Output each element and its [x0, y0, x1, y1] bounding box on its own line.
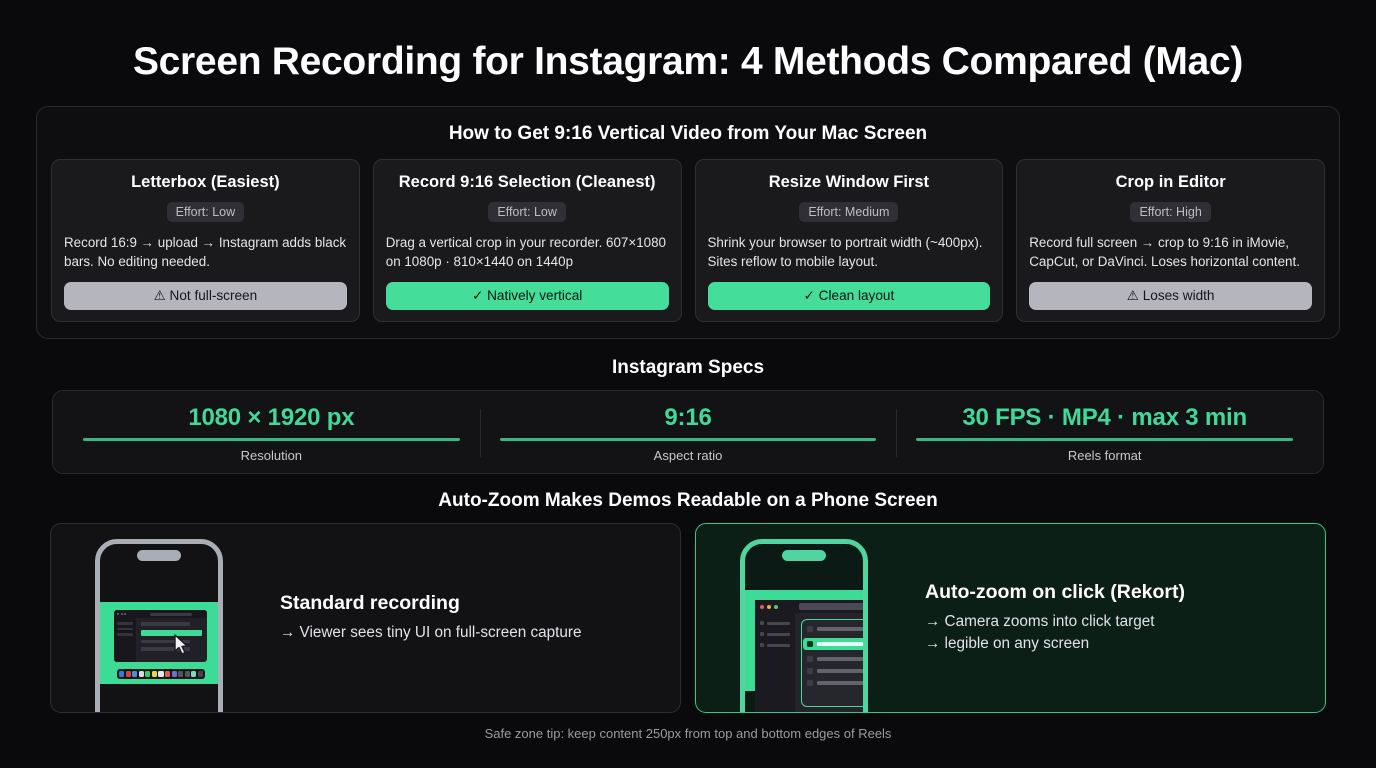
- sidebar-item: [760, 632, 790, 636]
- effort-wrapper: Effort: High: [1029, 202, 1312, 222]
- verdict-label: Clean layout: [819, 288, 895, 303]
- dock-app-icon: [119, 671, 124, 677]
- dock-app-icon: [152, 671, 157, 677]
- traffic-light-red-icon: [760, 605, 764, 609]
- checkbox-icon: [807, 668, 813, 674]
- warning-triangle-icon: ⚠: [1127, 288, 1139, 303]
- spec-underline: [83, 438, 460, 441]
- effort-badge: Effort: Medium: [799, 202, 898, 222]
- method-verdict: ⚠ Not full-screen: [64, 282, 347, 310]
- sidebar-item: [760, 643, 790, 647]
- mini-sidebar-line: [117, 628, 133, 631]
- phone-mockup-standard: [51, 523, 266, 713]
- mini-sidebar-line: [117, 633, 133, 636]
- warning-triangle-icon: ⚠: [154, 288, 166, 303]
- dock-app-icon: [172, 671, 177, 677]
- zoom-accent-edge-left: [745, 590, 755, 691]
- methods-row: Letterbox (Easiest) Effort: Low Record 1…: [51, 159, 1325, 322]
- mini-window-titlebar: [114, 610, 207, 618]
- mini-desktop-window: [114, 610, 207, 662]
- zoomed-window-body: [755, 613, 868, 713]
- dock-app-icon: [158, 671, 163, 677]
- phone-notch-icon: [782, 550, 826, 561]
- spec-aspect-ratio: 9:16 Aspect ratio: [480, 403, 897, 463]
- check-icon: ✓: [472, 288, 483, 303]
- dock-trash-icon: [198, 671, 203, 677]
- dock-app-icon: [145, 671, 150, 677]
- mouse-cursor-icon: [174, 634, 190, 656]
- dock-app-icon: [126, 671, 131, 677]
- standard-recording-text: Standard recording → Viewer sees tiny UI…: [266, 592, 582, 644]
- focus-row-label: [817, 627, 868, 631]
- letterbox-band: [100, 602, 218, 684]
- method-description: Drag a vertical crop in your recorder. 6…: [386, 233, 669, 271]
- auto-zoom-line2: → legible on any screen: [925, 633, 1185, 655]
- method-card-resize-window: Resize Window First Effort: Medium Shrin…: [695, 159, 1004, 322]
- zoomed-app-window: [755, 600, 868, 713]
- verdict-label: Natively vertical: [487, 288, 582, 303]
- checkbox-icon: [807, 656, 813, 662]
- method-title: Crop in Editor: [1029, 172, 1312, 193]
- sidebar-item-icon: [760, 643, 764, 647]
- mini-content-row: [141, 622, 190, 626]
- safe-zone-footnote: Safe zone tip: keep content 250px from t…: [36, 726, 1340, 741]
- mini-sidebar-line: [117, 622, 133, 625]
- focus-row-label: [817, 657, 868, 661]
- method-title: Letterbox (Easiest): [64, 172, 347, 193]
- focus-row-selected: [803, 638, 868, 650]
- verdict-label: Not full-screen: [170, 288, 258, 303]
- phone-mockup-autozoom: [696, 523, 911, 713]
- page-title: Screen Recording for Instagram: 4 Method…: [36, 40, 1340, 84]
- checkbox-icon: [807, 641, 813, 647]
- spec-label: Resolution: [77, 448, 466, 463]
- method-description: Shrink your browser to portrait width (~…: [708, 233, 991, 271]
- infographic-page: Screen Recording for Instagram: 4 Method…: [0, 0, 1376, 768]
- spec-value: 1080 × 1920 px: [77, 403, 466, 433]
- panel-standard-recording: Standard recording → Viewer sees tiny UI…: [50, 523, 681, 713]
- focus-row: [807, 626, 868, 632]
- standard-recording-title: Standard recording: [280, 592, 582, 615]
- zoom-accent-edge-top: [745, 590, 863, 600]
- effort-badge: Effort: Low: [488, 202, 566, 222]
- specs-section-heading: Instagram Specs: [36, 357, 1340, 379]
- methods-section-heading: How to Get 9:16 Vertical Video from Your…: [51, 123, 1325, 145]
- effort-wrapper: Effort: Low: [386, 202, 669, 222]
- hand-pointer-cursor-icon: [867, 645, 868, 667]
- dock-app-icon: [178, 671, 183, 677]
- methods-panel: How to Get 9:16 Vertical Video from Your…: [36, 106, 1340, 339]
- dock-app-icon: [132, 671, 137, 677]
- mini-window-content: [136, 618, 207, 662]
- traffic-light-yellow-icon: [121, 613, 123, 615]
- auto-zoom-text: Auto-zoom on click (Rekort) → Camera zoo…: [911, 581, 1185, 654]
- spec-value: 30 FPS · MP4 · max 3 min: [910, 403, 1299, 433]
- zoomed-window-tab: [799, 603, 868, 610]
- sidebar-item-label: [767, 622, 790, 625]
- spec-underline: [916, 438, 1293, 441]
- dock-app-icon: [185, 671, 190, 677]
- method-verdict: ✓ Clean layout: [708, 282, 991, 310]
- phone-frame: [740, 539, 868, 713]
- traffic-light-yellow-icon: [767, 605, 771, 609]
- mini-window-body: [114, 618, 207, 662]
- effort-badge: Effort: High: [1130, 202, 1210, 222]
- spec-label: Aspect ratio: [494, 448, 883, 463]
- verdict-label: Loses width: [1143, 288, 1215, 303]
- focus-row-label: [817, 642, 868, 646]
- panel-auto-zoom: Auto-zoom on click (Rekort) → Camera zoo…: [695, 523, 1326, 713]
- sidebar-item-icon: [760, 632, 764, 636]
- focus-row: [807, 668, 868, 674]
- specs-panel: 1080 × 1920 px Resolution 9:16 Aspect ra…: [52, 390, 1324, 474]
- focus-row: [807, 680, 868, 686]
- method-description: Record 16:9 → upload → Instagram adds bl…: [64, 233, 347, 271]
- standard-recording-line1: → Viewer sees tiny UI on full-screen cap…: [280, 622, 582, 644]
- auto-zoom-title: Auto-zoom on click (Rekort): [925, 581, 1185, 604]
- effort-badge: Effort: Low: [167, 202, 245, 222]
- spec-value: 9:16: [494, 403, 883, 433]
- spec-underline: [500, 438, 877, 441]
- dock-app-icon: [139, 671, 144, 677]
- sidebar-item-label: [767, 644, 790, 647]
- focus-row-label: [817, 681, 868, 685]
- zoomed-window-content: [795, 613, 868, 713]
- macos-dock: [117, 669, 205, 679]
- traffic-light-red-icon: [117, 613, 119, 615]
- zoomed-window-titlebar: [755, 600, 868, 613]
- effort-wrapper: Effort: Low: [64, 202, 347, 222]
- sidebar-item: [760, 621, 790, 625]
- method-card-crop-in-editor: Crop in Editor Effort: High Record full …: [1016, 159, 1325, 322]
- checkbox-icon: [807, 626, 813, 632]
- sidebar-item-icon: [760, 621, 764, 625]
- focus-row: [807, 656, 868, 662]
- method-description: Record full screen → crop to 9:16 in iMo…: [1029, 233, 1312, 271]
- mini-window-sidebar: [114, 618, 136, 662]
- traffic-light-green-icon: [774, 605, 778, 609]
- method-title: Resize Window First: [708, 172, 991, 193]
- spec-label: Reels format: [910, 448, 1299, 463]
- phone-frame: [95, 539, 223, 713]
- autozoom-focus-box: [801, 619, 868, 707]
- method-card-letterbox: Letterbox (Easiest) Effort: Low Record 1…: [51, 159, 360, 322]
- sidebar-item-label: [767, 633, 790, 636]
- checkbox-icon: [807, 680, 813, 686]
- method-verdict: ⚠ Loses width: [1029, 282, 1312, 310]
- zoomed-window-sidebar: [755, 613, 795, 713]
- method-card-record-selection: Record 9:16 Selection (Cleanest) Effort:…: [373, 159, 682, 322]
- auto-zoom-line1: → Camera zooms into click target: [925, 611, 1185, 633]
- mini-content-row-highlighted: [141, 630, 202, 636]
- focus-row-label: [817, 669, 868, 673]
- method-verdict: ✓ Natively vertical: [386, 282, 669, 310]
- dock-app-icon: [191, 671, 196, 677]
- autozoom-row: Standard recording → Viewer sees tiny UI…: [36, 523, 1340, 713]
- autozoom-section-heading: Auto-Zoom Makes Demos Readable on a Phon…: [36, 490, 1340, 512]
- traffic-light-green-icon: [124, 613, 126, 615]
- spec-resolution: 1080 × 1920 px Resolution: [63, 403, 480, 463]
- method-title: Record 9:16 Selection (Cleanest): [386, 172, 669, 193]
- phone-notch-icon: [137, 550, 181, 561]
- check-icon: ✓: [804, 288, 815, 303]
- dock-app-icon: [165, 671, 170, 677]
- spec-reels-format: 30 FPS · MP4 · max 3 min Reels format: [896, 403, 1313, 463]
- mini-window-addressbar: [150, 613, 192, 616]
- effort-wrapper: Effort: Medium: [708, 202, 991, 222]
